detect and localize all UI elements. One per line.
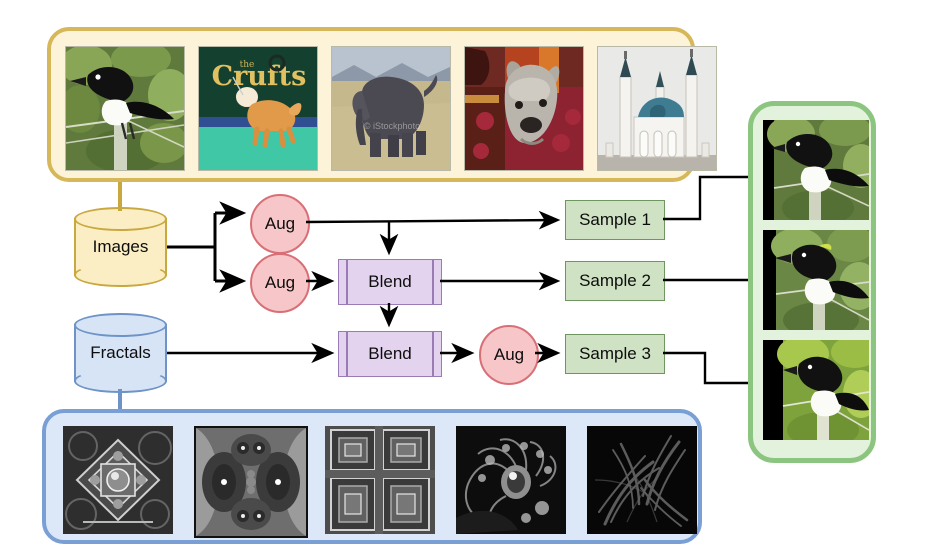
images-panel: Crufts the: [47, 27, 695, 182]
svg-text:© iStockphoto: © iStockphoto: [364, 121, 420, 131]
thumbnail-out-3: [763, 340, 869, 440]
thumbnail-fr-5: [587, 426, 697, 534]
link-aug1-to-sample1: [306, 220, 557, 222]
fractals-datastore-label: Fractals: [74, 343, 167, 363]
thumbnail-img-mosque: [597, 46, 717, 171]
sample-box-1[interactable]: Sample 1: [565, 200, 665, 240]
images-datastore-top: [74, 207, 167, 231]
fractals-datastore-bottom: [74, 369, 167, 393]
output-panel: [748, 101, 876, 463]
thumbnail-fr-1: [63, 426, 173, 534]
aug-node-2[interactable]: Aug: [250, 253, 310, 313]
fractals-panel: [42, 409, 702, 544]
thumbnail-out-1: [763, 120, 869, 220]
fractals-datastore-top: [74, 313, 167, 337]
images-datastore: Images: [74, 207, 167, 287]
svg-text:Crufts: Crufts: [212, 61, 307, 92]
thumbnail-img-magpie: [65, 46, 185, 171]
images-datastore-bottom: [74, 263, 167, 287]
thumbnail-fr-2: [194, 426, 308, 538]
diagram-canvas: Crufts the: [0, 0, 927, 556]
fractals-datastore: Fractals: [74, 313, 167, 393]
thumbnail-fr-4: [456, 426, 566, 534]
thumbnail-fr-3: [325, 426, 435, 534]
aug-node-1[interactable]: Aug: [250, 194, 310, 254]
thumbnail-out-2: [763, 230, 869, 330]
thumbnail-img-terrier: [464, 46, 584, 171]
link-sample1-to-output: [663, 177, 748, 219]
thumbnail-img-dog-show: Crufts the: [198, 46, 318, 171]
thumbnail-img-elephant: © iStockphoto: [331, 46, 451, 171]
sample-box-2[interactable]: Sample 2: [565, 261, 665, 301]
blend-node-2[interactable]: Blend: [338, 331, 442, 377]
images-datastore-label: Images: [74, 237, 167, 257]
blend-node-1[interactable]: Blend: [338, 259, 442, 305]
svg-text:the: the: [240, 60, 255, 70]
aug-node-3[interactable]: Aug: [479, 325, 539, 385]
link-sample3-to-output: [663, 353, 748, 383]
sample-box-3[interactable]: Sample 3: [565, 334, 665, 374]
